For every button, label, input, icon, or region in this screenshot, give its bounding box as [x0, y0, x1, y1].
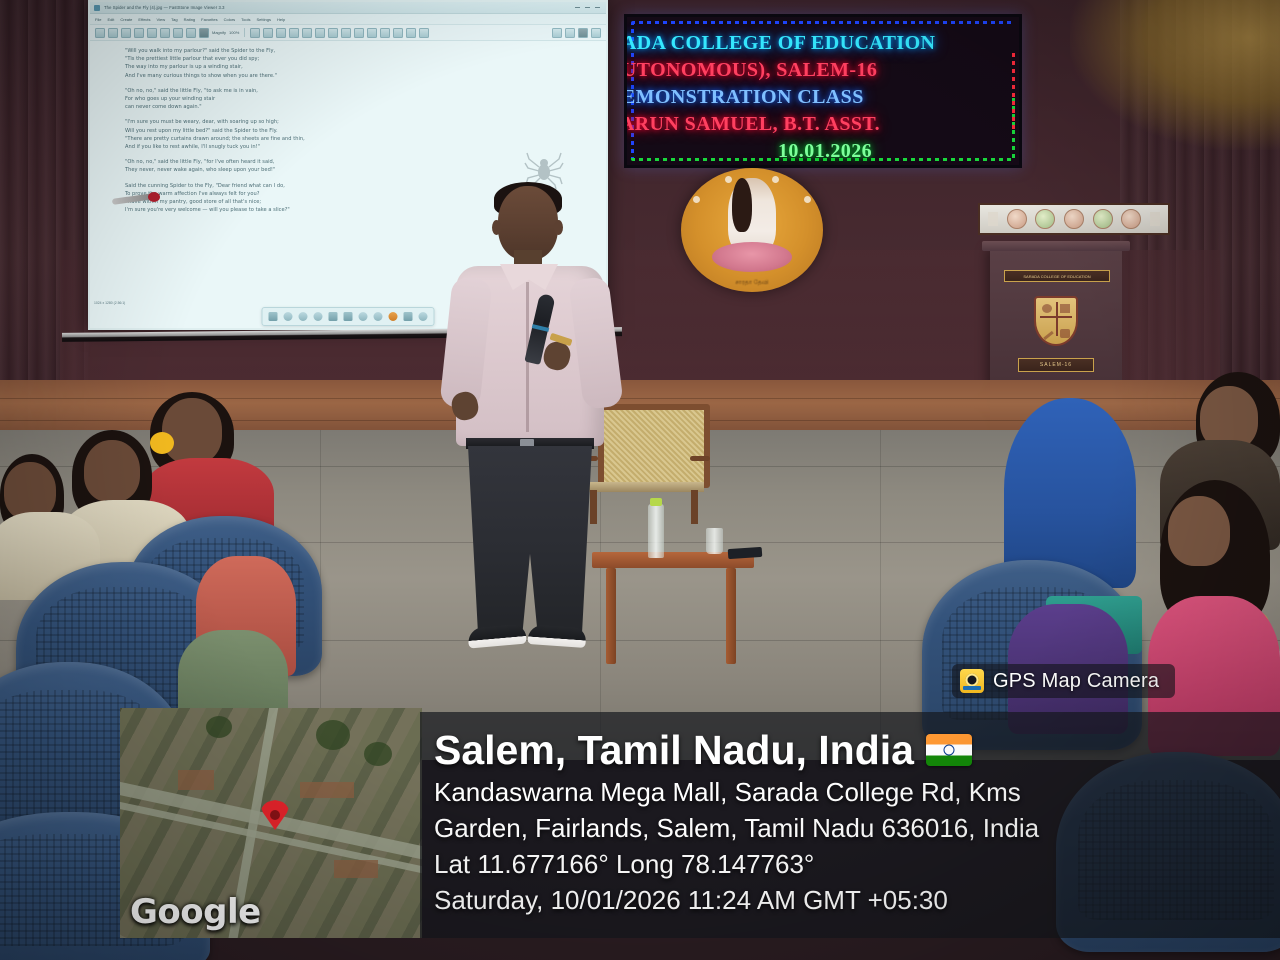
menu-item-colors[interactable]: Colors [224, 17, 236, 22]
toolbar-draw-icon[interactable] [354, 28, 364, 38]
toolbar-right-group[interactable] [552, 28, 601, 38]
toolbar-crop-icon[interactable] [263, 28, 273, 38]
led-line-presenter: r.ARUN SAMUEL, B.T. ASST. [624, 112, 1003, 137]
toolbar-border-icon[interactable] [380, 28, 390, 38]
toolbar-view-grid-icon[interactable] [565, 28, 575, 38]
led-line-class: DEMONSTRATION CLASS [624, 85, 1003, 110]
toolbar-undo-icon[interactable] [250, 28, 260, 38]
toolbar-text-icon[interactable] [367, 28, 377, 38]
dock-settings-icon[interactable] [359, 312, 368, 321]
camera-icon [960, 669, 984, 693]
portrait-end-right [1150, 212, 1160, 226]
portrait-medallion [1035, 209, 1055, 229]
water-bottle [648, 504, 664, 558]
toolbar-resize-icon[interactable] [276, 28, 286, 38]
portrait-medallion [1064, 209, 1084, 229]
map-tree-cluster [206, 716, 232, 738]
podium-top-surface [982, 241, 1130, 251]
medallion-caption: சாரதா தேவி [681, 280, 823, 287]
crest-hline [1040, 316, 1072, 318]
menu-item-view[interactable]: View [157, 17, 166, 22]
dock-search-icon[interactable] [284, 312, 293, 321]
toolbar-color-icon[interactable] [315, 28, 325, 38]
toolbar-magnify-icon[interactable] [199, 28, 209, 38]
toolbar-slideshow-icon[interactable] [147, 28, 157, 38]
podium-location-text: SALEM-16 [1040, 362, 1072, 368]
led-text-lines: RADA COLLEGE OF EDUCATION AUTONOMOUS), S… [624, 31, 1003, 164]
poem-line: I'm sure you're very welcome — will you … [125, 207, 290, 213]
app-icon [94, 5, 100, 11]
menu-item-tag[interactable]: Tag [171, 17, 177, 22]
medallion-bead [804, 196, 811, 203]
gps-info-panel: Salem, Tamil Nadu, India Kandaswarna Meg… [420, 712, 1280, 938]
poem-line: They never, never wake again, who sleep … [125, 167, 275, 173]
google-logo: Google [130, 892, 261, 932]
dock-link-icon[interactable] [374, 312, 383, 321]
poem-line: "I'm sure you must be weary, dear, with … [125, 119, 279, 125]
close-icon[interactable] [595, 7, 600, 8]
poem-line: "Will you walk into my parlour?" said th… [125, 48, 275, 54]
toolbar-compare-icon[interactable] [406, 28, 416, 38]
wall-portrait-strip [978, 203, 1170, 235]
audience-head [1168, 496, 1230, 566]
gps-address-line-1: Kandaswarna Mega Mall, Sarada College Rd… [434, 774, 1280, 810]
floor-tile-line [880, 430, 881, 760]
menu-item-settings[interactable]: Settings [257, 17, 271, 22]
chair-leg [691, 490, 698, 524]
minimize-icon[interactable] [575, 7, 580, 8]
drinking-glass [706, 528, 723, 554]
menu-item-rating[interactable]: Rating [184, 17, 196, 22]
toolbar-fullscreen-icon[interactable] [134, 28, 144, 38]
dock-compare-icon[interactable] [329, 312, 338, 321]
pin-center-dot [270, 810, 280, 820]
toolbar-email-icon[interactable] [160, 28, 170, 38]
toolbar-view-single-icon[interactable] [578, 28, 588, 38]
podium-microphone-head-icon [148, 192, 160, 202]
gps-map-camera-label: GPS Map Camera [993, 670, 1159, 693]
menu-bar[interactable]: File Edit Create Effects View Tag Rating… [90, 14, 606, 25]
map-building [178, 770, 214, 790]
medallion-bead [772, 176, 779, 183]
medallion-bead [693, 196, 700, 203]
stage-curtain-gold-drape [1070, 0, 1280, 150]
toolbar-watermark-icon[interactable] [393, 28, 403, 38]
toolbar-magnify-label: Magnify [212, 30, 226, 35]
podium-location-plate: SALEM-16 [1018, 358, 1094, 372]
dock-rotate-left-icon[interactable] [299, 312, 308, 321]
toolbar-flip-icon[interactable] [302, 28, 312, 38]
portrait-end-left [988, 212, 998, 226]
presenter-shoe-right [527, 624, 586, 648]
poem-line: And if you like to rest awhile, I'll snu… [125, 144, 260, 150]
map-tree-cluster [364, 742, 392, 766]
portrait-medallion [1093, 209, 1113, 229]
gps-coordinates: Lat 11.677166° Long 78.147763° [434, 846, 1280, 882]
presenter-ear-right [554, 220, 563, 235]
toolbar-rotate-icon[interactable] [289, 28, 299, 38]
presenter-trousers [468, 446, 592, 632]
gps-datetime: Saturday, 10/01/2026 11:24 AM GMT +05:30 [434, 882, 1280, 918]
medallion-figure-hair [732, 178, 752, 232]
window-title-bar: The Spider and the Fly (4).jpg — FastSto… [90, 2, 606, 14]
window-controls[interactable] [575, 7, 602, 8]
gps-city-line: Salem, Tamil Nadu, India [434, 726, 1280, 774]
podium-name-text: SARADA COLLEGE OF EDUCATION [1023, 274, 1090, 279]
dock-info-icon[interactable] [419, 312, 428, 321]
presenter-ear-left [492, 220, 501, 235]
toolbar-separator [244, 28, 245, 37]
presenter-speaker [440, 186, 620, 686]
gps-address-line-2: Garden, Fairlands, Salem, Tamil Nadu 636… [434, 810, 1280, 846]
water-bottle-cap [650, 498, 662, 506]
map-building [300, 782, 354, 798]
toolbar-clone-icon[interactable] [341, 28, 351, 38]
gps-map-camera-watermark: GPS Map Camera [952, 664, 1175, 698]
goddess-medallion: சாரதா தேவி [681, 168, 823, 292]
india-flag-icon [926, 734, 972, 766]
dock-rotate-right-icon[interactable] [314, 312, 323, 321]
chair-arm-right [690, 456, 710, 461]
crest-symbol [1060, 304, 1070, 313]
photograph: The Spider and the Fly (4).jpg — FastSto… [0, 0, 1280, 960]
audience-head [84, 440, 140, 502]
toolbar-open-icon[interactable] [95, 28, 105, 38]
toolbar-copy-icon[interactable] [108, 28, 118, 38]
toolbar-print-icon[interactable] [173, 28, 183, 38]
crest-symbol [1060, 329, 1070, 338]
menu-item-create[interactable]: Create [120, 17, 132, 22]
led-line-college: RADA COLLEGE OF EDUCATION [624, 31, 1003, 56]
floating-dock-toolbar[interactable] [262, 307, 435, 326]
poem-line: "There are pretty curtains drawn around;… [125, 136, 305, 142]
menu-item-tools[interactable]: Tools [241, 17, 250, 22]
medallion-bead [725, 176, 732, 183]
audience-head [162, 398, 222, 464]
podium-name-plate: SARADA COLLEGE OF EDUCATION [1004, 270, 1110, 282]
dock-record-icon[interactable] [389, 312, 398, 321]
poem-line: For who goes up your winding stair [125, 96, 215, 102]
medallion-lotus [712, 242, 792, 272]
map-tree-cluster [316, 720, 350, 750]
dock-save-icon[interactable] [269, 312, 278, 321]
poem-line: Will you rest upon my little bed?" said … [125, 128, 278, 134]
menu-item-effects[interactable]: Effects [138, 17, 150, 22]
portrait-medallion [1121, 209, 1141, 229]
map-location-pin-icon [260, 800, 290, 830]
poem-line: The way into my parlour is up a winding … [125, 64, 243, 70]
toolbar[interactable]: Magnify 100% [90, 25, 606, 41]
hair-flower [150, 432, 174, 454]
map-thumbnail[interactable]: Google [120, 708, 422, 938]
presenter-head [498, 186, 558, 260]
menu-item-edit[interactable]: Edit [107, 17, 114, 22]
dock-print-icon[interactable] [404, 312, 413, 321]
presenter-shoe-left [467, 624, 527, 649]
table-leg [726, 568, 736, 664]
crest-vline [1056, 302, 1058, 336]
poem-line: Said the cunning Spider to the Fly, "Dea… [125, 183, 285, 189]
poem-line: "Oh no, no," said the little Fly, "to as… [125, 88, 258, 94]
toolbar-view-list-icon[interactable] [552, 28, 562, 38]
toolbar-save-icon[interactable] [121, 28, 131, 38]
college-crest-icon [1034, 296, 1078, 346]
crest-symbol [1043, 331, 1054, 340]
menu-item-favorites[interactable]: Favorites [201, 17, 217, 22]
poem-line: And I've many curious things to show whe… [125, 73, 277, 79]
window-title-text: The Spider and the Fly (4).jpg — FastSto… [104, 5, 225, 10]
poem-line: can never come down again." [125, 104, 202, 110]
menu-item-help[interactable]: Help [277, 17, 285, 22]
maximize-icon[interactable] [585, 7, 590, 8]
toolbar-view-filmstrip-icon[interactable] [591, 28, 601, 38]
dock-copy-icon[interactable] [344, 312, 353, 321]
toolbar-zoom-level[interactable]: 100% [229, 30, 239, 35]
crest-symbol [1042, 304, 1052, 313]
poem-line: "Tis the prettiest little parlour that e… [125, 56, 259, 62]
toolbar-wallpaper-icon[interactable] [186, 28, 196, 38]
map-building [334, 860, 378, 878]
menu-item-file[interactable]: File [95, 17, 101, 22]
led-line-date: 10.01.2026 [624, 139, 1003, 164]
portrait-medallion [1007, 209, 1027, 229]
toolbar-redeye-icon[interactable] [328, 28, 338, 38]
poem-line: "Oh no, no," said the little Fly, "for I… [125, 159, 274, 165]
gps-city-text: Salem, Tamil Nadu, India [434, 726, 914, 774]
led-display-banner: RADA COLLEGE OF EDUCATION AUTONOMOUS), S… [624, 14, 1022, 168]
toolbar-info-icon[interactable] [419, 28, 429, 38]
status-text: 1024 x 1280 (2.56:1) [94, 301, 125, 305]
led-line-autonomous: AUTONOMOUS), SALEM-16 [624, 58, 1003, 83]
